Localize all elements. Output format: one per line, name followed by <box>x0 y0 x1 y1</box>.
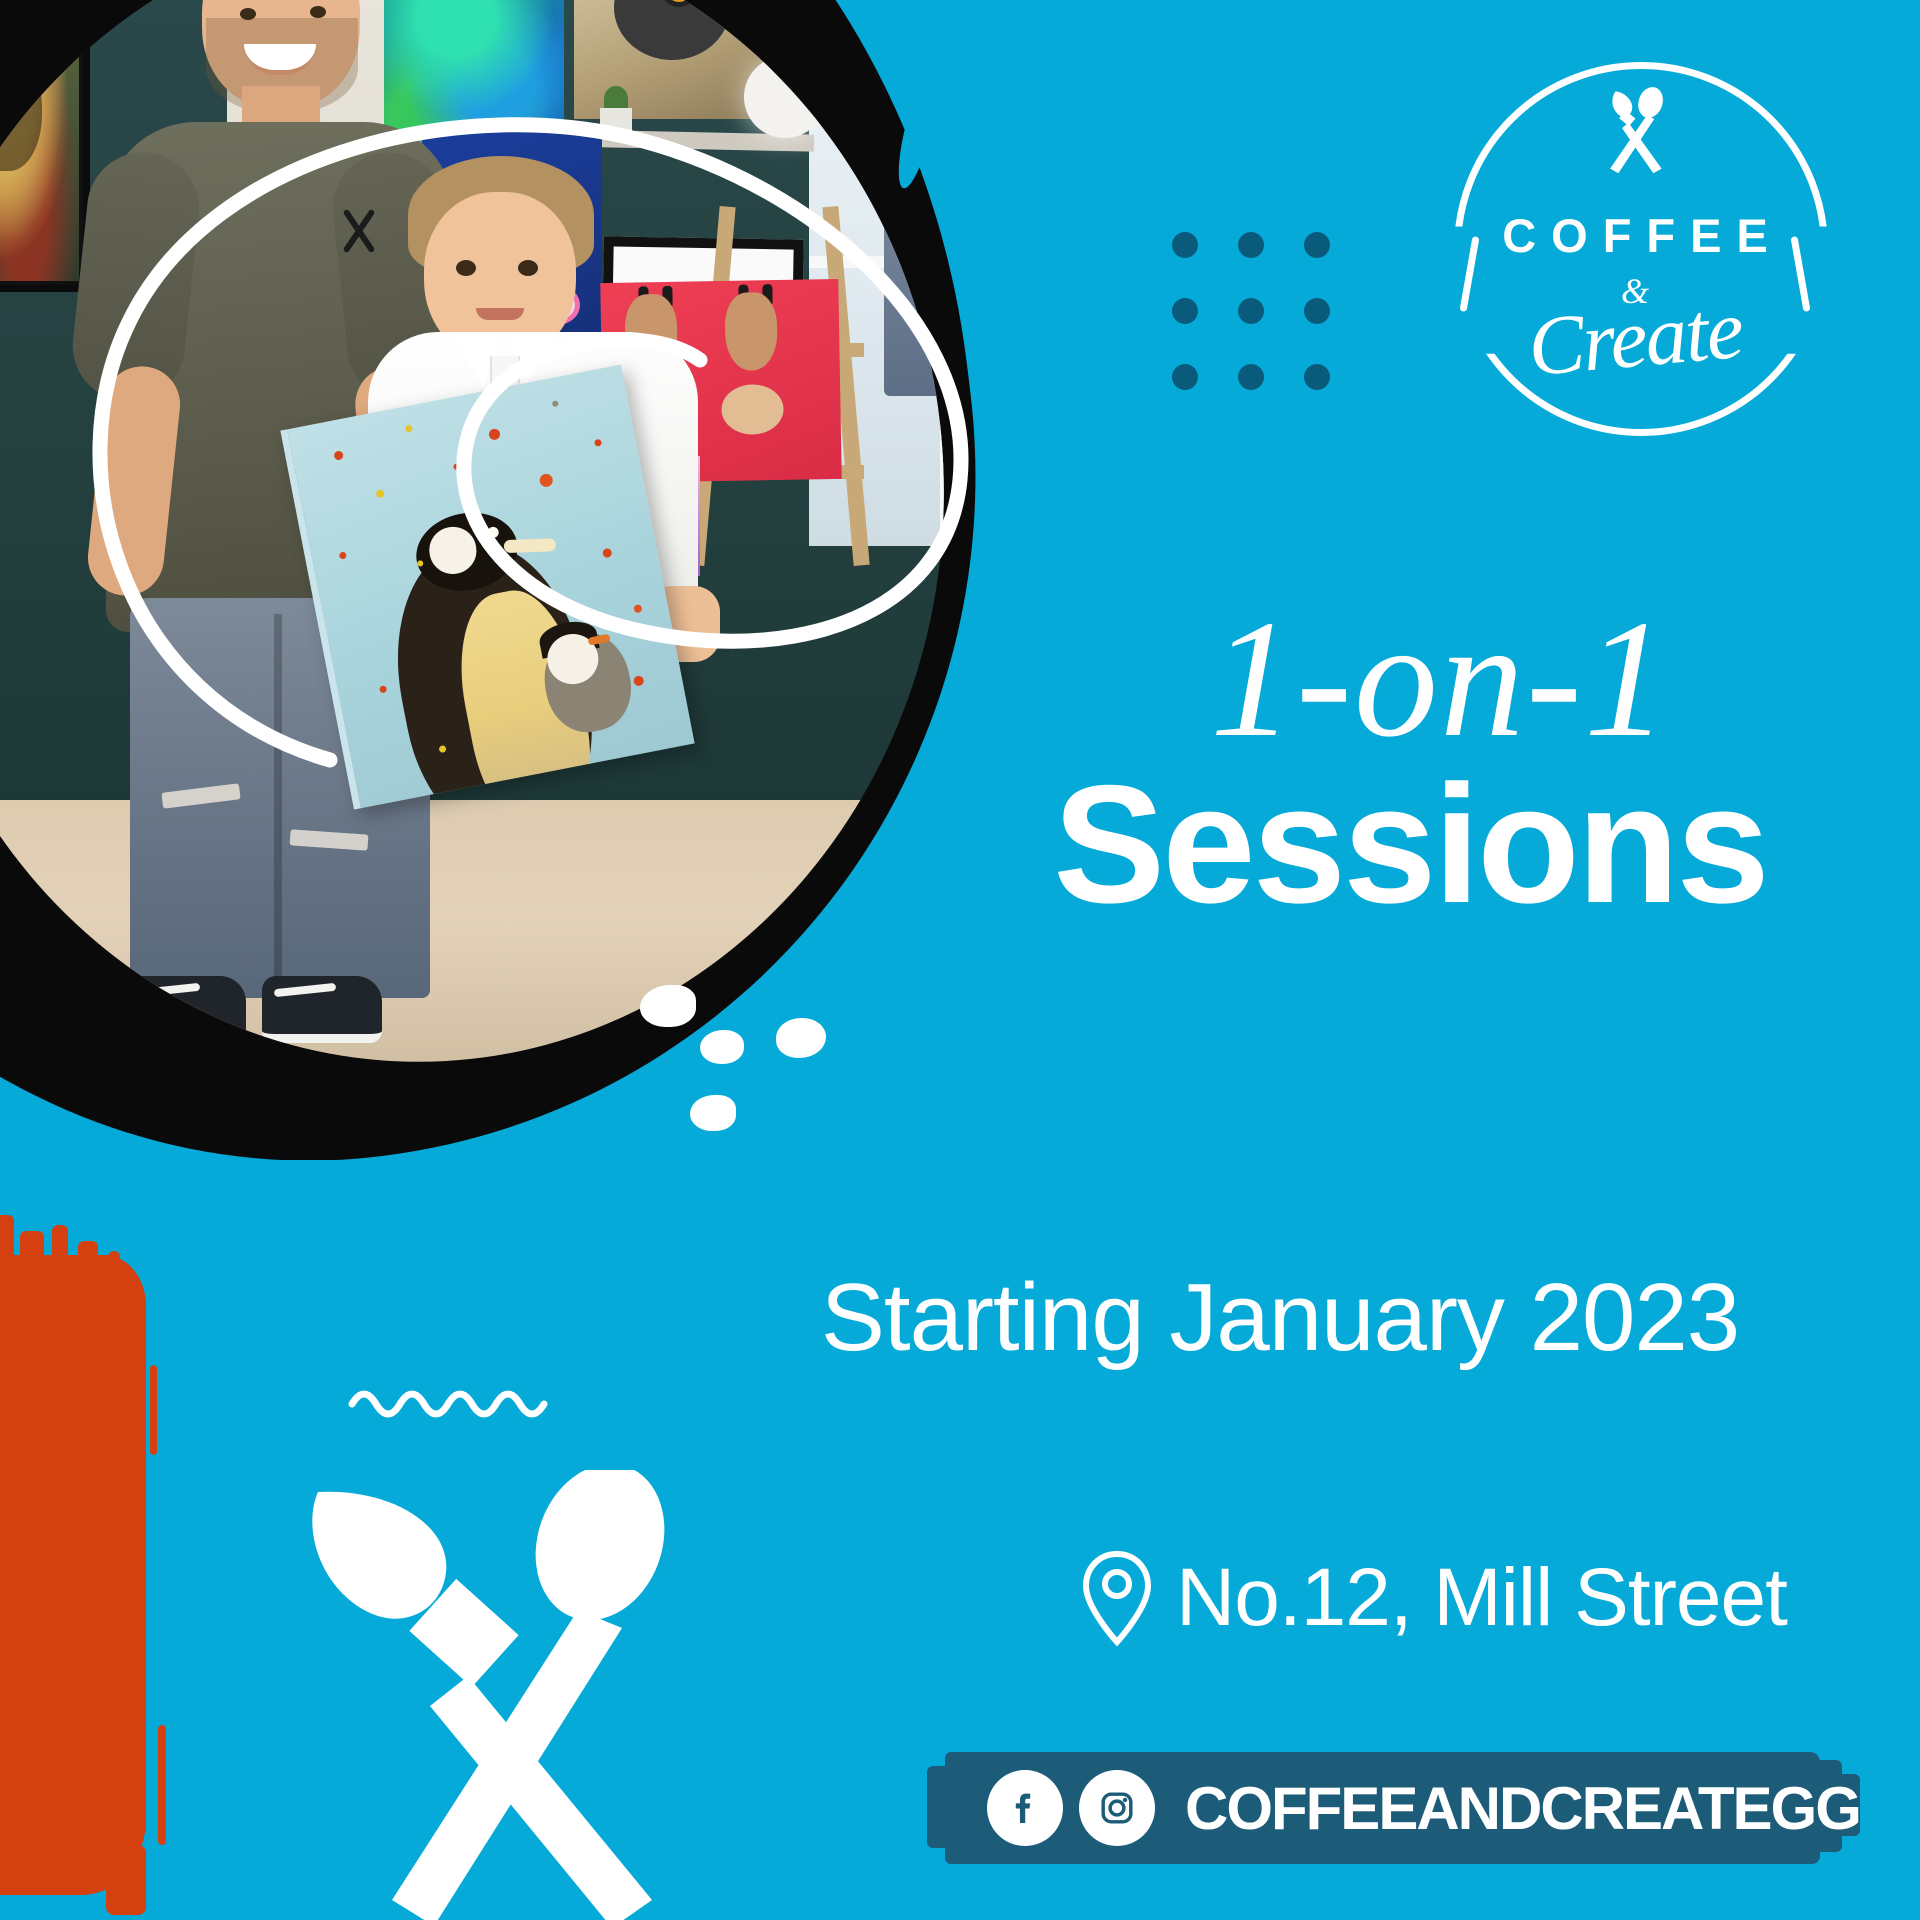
location-pin-icon <box>1080 1548 1154 1648</box>
paint-splash-blob <box>640 985 696 1027</box>
banner-edge <box>927 1766 957 1848</box>
penguin-painting-canvas <box>280 364 694 809</box>
paintbrush-and-spoon-crossed-icon-large <box>300 1470 730 1920</box>
poster-canvas: EASTERN <box>0 0 1920 1920</box>
brand-logo[interactable]: COFFEE & Create <box>1420 58 1850 418</box>
dot-grid-decoration <box>1172 232 1352 412</box>
photo-collage: EASTERN <box>0 0 1020 1160</box>
brush-nick <box>699 1064 820 1092</box>
potted-plant <box>594 86 638 134</box>
logo-wordmark: COFFEE <box>1420 208 1850 263</box>
paintbrush-and-spoon-crossed-icon <box>1588 84 1680 176</box>
address-text: No.12, Mill Street <box>1176 1551 1787 1645</box>
orange-brush-stroke <box>0 1215 186 1915</box>
headline-script: 1-on-1 <box>960 595 1920 763</box>
social-handle: COFFEEANDCREATEGG <box>1185 1774 1860 1843</box>
wavy-line-decoration <box>348 1382 548 1432</box>
studio-photo: EASTERN <box>0 0 964 1096</box>
facebook-icon[interactable] <box>987 1770 1063 1846</box>
paint-splash-blob <box>700 1030 744 1064</box>
address-block: No.12, Mill Street <box>1080 1548 1787 1648</box>
subheadline: Starting January 2023 <box>640 1270 1920 1366</box>
paint-splash-blob <box>690 1095 736 1131</box>
headline-bold: Sessions <box>900 760 1920 928</box>
instagram-icon[interactable] <box>1079 1770 1155 1846</box>
social-bar[interactable]: COFFEEANDCREATEGG <box>945 1752 1820 1864</box>
